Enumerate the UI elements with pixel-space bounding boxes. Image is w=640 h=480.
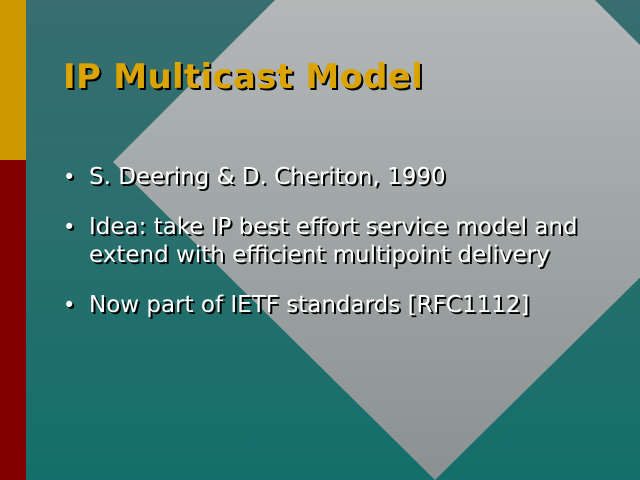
list-item-text: Now part of IETF standards [RFC1112] bbox=[89, 291, 593, 319]
bullet-icon: • bbox=[63, 291, 89, 319]
list-item-text: Idea: take IP best effort service model … bbox=[89, 213, 593, 269]
slide-title: IP Multicast Model bbox=[63, 57, 423, 97]
presentation-slide: IP Multicast Model • S. Deering & D. Che… bbox=[0, 0, 640, 480]
slide-content: IP Multicast Model • S. Deering & D. Che… bbox=[0, 0, 640, 480]
bullet-icon: • bbox=[63, 163, 89, 191]
bullet-list: • S. Deering & D. Cheriton, 1990 • Idea:… bbox=[63, 163, 593, 341]
bullet-icon: • bbox=[63, 213, 89, 241]
list-item: • Idea: take IP best effort service mode… bbox=[63, 213, 593, 269]
list-item: • Now part of IETF standards [RFC1112] bbox=[63, 291, 593, 319]
list-item-text: S. Deering & D. Cheriton, 1990 bbox=[89, 163, 593, 191]
list-item: • S. Deering & D. Cheriton, 1990 bbox=[63, 163, 593, 191]
